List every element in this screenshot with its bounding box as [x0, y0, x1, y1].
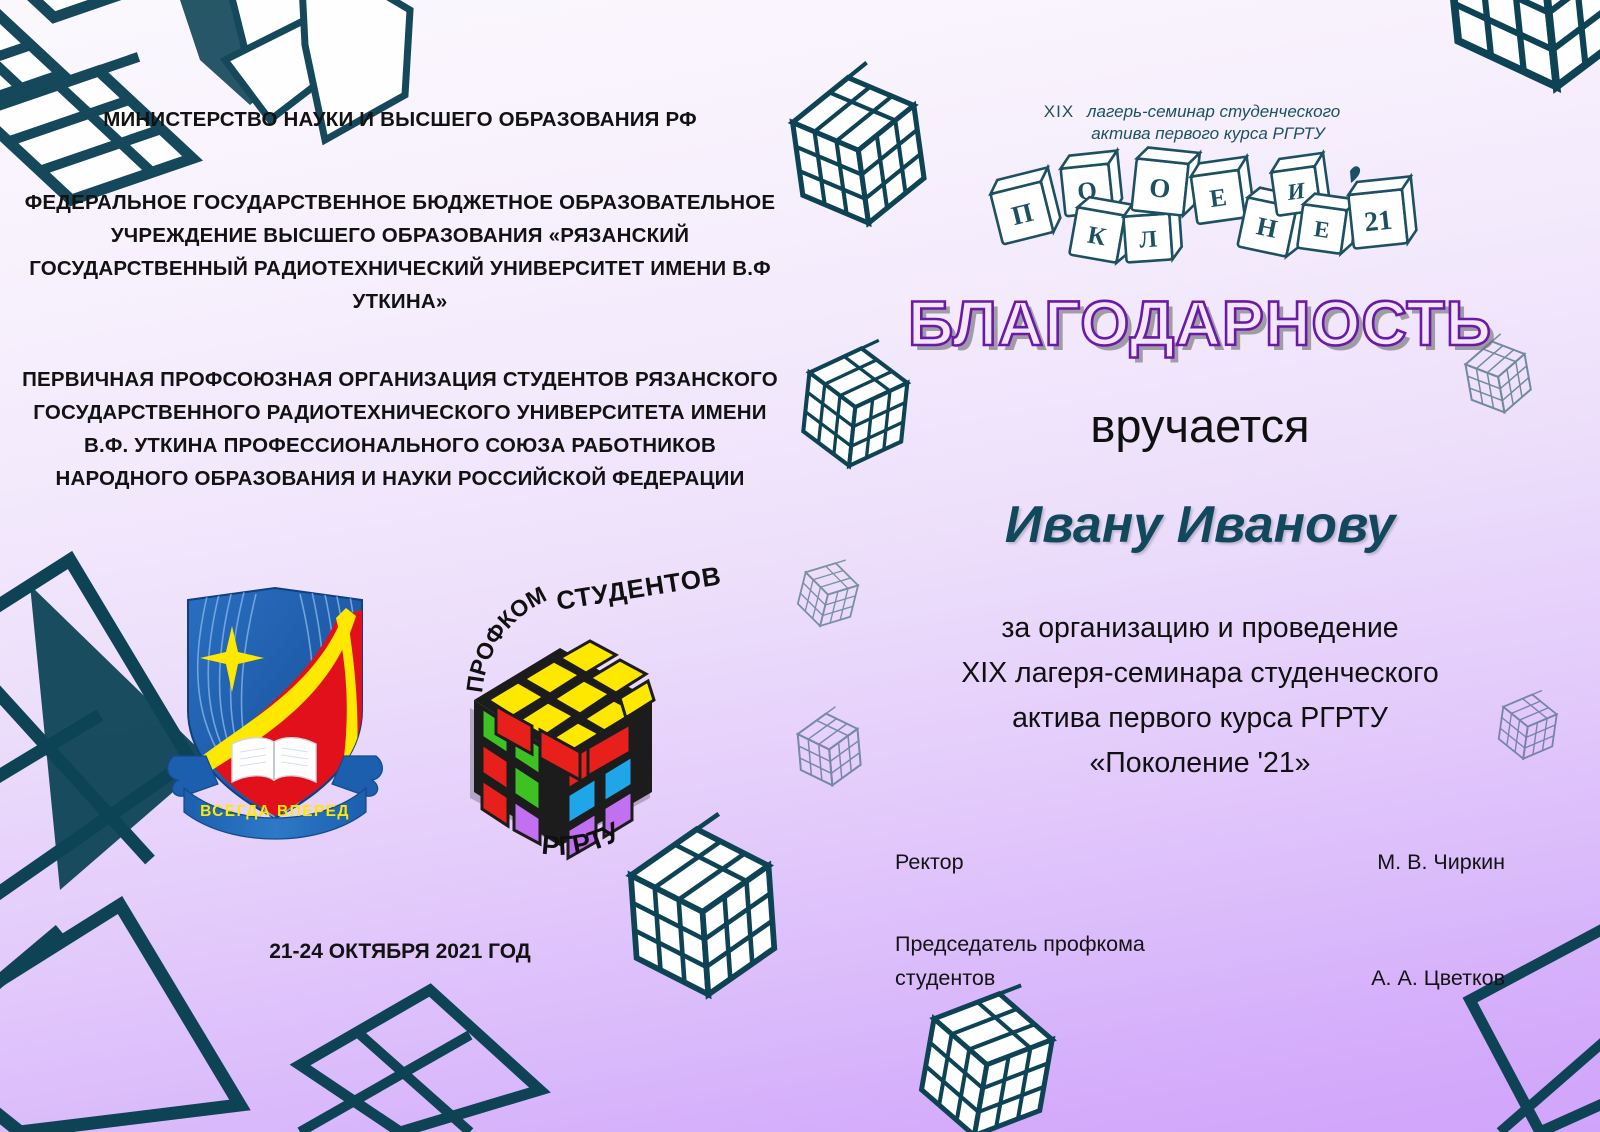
- apostrophe-icon: [1350, 166, 1360, 183]
- signature-name: М. В. Чиркин: [1377, 845, 1505, 879]
- profkom-label-main: СТУДЕНТОВ: [554, 560, 723, 616]
- signature-role: Ректор: [895, 845, 964, 879]
- shield-motto: ВСЕГДА ВПЕРЕД: [200, 803, 350, 820]
- event-logo-year: 21: [1363, 205, 1394, 239]
- event-subtitle-line-2: актива первого курса РГРТУ: [1091, 124, 1327, 143]
- svg-text:О: О: [1148, 172, 1172, 204]
- award-reason-line: XIX лагеря-семинара студенческого: [840, 651, 1560, 696]
- svg-text:Л: Л: [1138, 226, 1158, 253]
- signature-row: Председатель профкома студентов А. А. Цв…: [895, 927, 1505, 995]
- award-reason-line: «Поколение '21»: [840, 741, 1560, 786]
- event-logo: XIX лагерь-семинар студенческого актива …: [970, 95, 1410, 260]
- award-reason-line: за организацию и проведение: [840, 606, 1560, 651]
- award-reason: за организацию и проведение XIX лагеря-с…: [840, 606, 1560, 786]
- svg-text:XIX лагерь-семинар сту: XIX лагерь-семинар студенческого: [1044, 102, 1340, 121]
- trade-union-name: ПЕРВИЧНАЯ ПРОФСОЮЗНАЯ ОРГАНИЗАЦИЯ СТУДЕН…: [20, 363, 780, 495]
- event-date: 21-24 ОКТЯБРЯ 2021 ГОД: [20, 940, 780, 964]
- event-subtitle-line-1: лагерь-семинар студенческого: [1086, 102, 1340, 121]
- ministry-line: МИНИСТЕРСТВО НАУКИ И ВЫСШЕГО ОБРАЗОВАНИЯ…: [20, 108, 780, 132]
- book-icon: [232, 738, 316, 782]
- award-title: БЛАГОДАРНОСТЬ: [800, 288, 1600, 360]
- event-roman-numeral: XIX: [1044, 102, 1074, 121]
- profkom-cube-logo: ПРОФКОМ СТУДЕНТОВ РГРТУ: [440, 548, 690, 860]
- university-shield-emblem: ВСЕГДА ВПЕРЕД: [160, 560, 390, 840]
- university-name: ФЕДЕРАЛЬНОЕ ГОСУДАРСТВЕННОЕ БЮДЖЕТНОЕ ОБ…: [20, 186, 780, 318]
- recipient-name: Ивану Иванову: [800, 495, 1600, 555]
- signature-role: Председатель профкома студентов: [895, 927, 1145, 995]
- signature-name: А. А. Цветков: [1371, 961, 1505, 995]
- award-verb: вручается: [800, 398, 1600, 453]
- event-logo-blocks: П О К Л: [988, 146, 1418, 264]
- left-column: МИНИСТЕРСТВО НАУКИ И ВЫСШЕГО ОБРАЗОВАНИЯ…: [0, 0, 800, 1132]
- certificate-page: МИНИСТЕРСТВО НАУКИ И ВЫСШЕГО ОБРАЗОВАНИЯ…: [0, 0, 1600, 1132]
- signature-block: Ректор М. В. Чиркин Председатель профком…: [895, 845, 1505, 995]
- signature-row: Ректор М. В. Чиркин: [895, 845, 1505, 879]
- award-reason-line: актива первого курса РГРТУ: [840, 696, 1560, 741]
- right-column: XIX лагерь-семинар студенческого актива …: [800, 0, 1600, 1132]
